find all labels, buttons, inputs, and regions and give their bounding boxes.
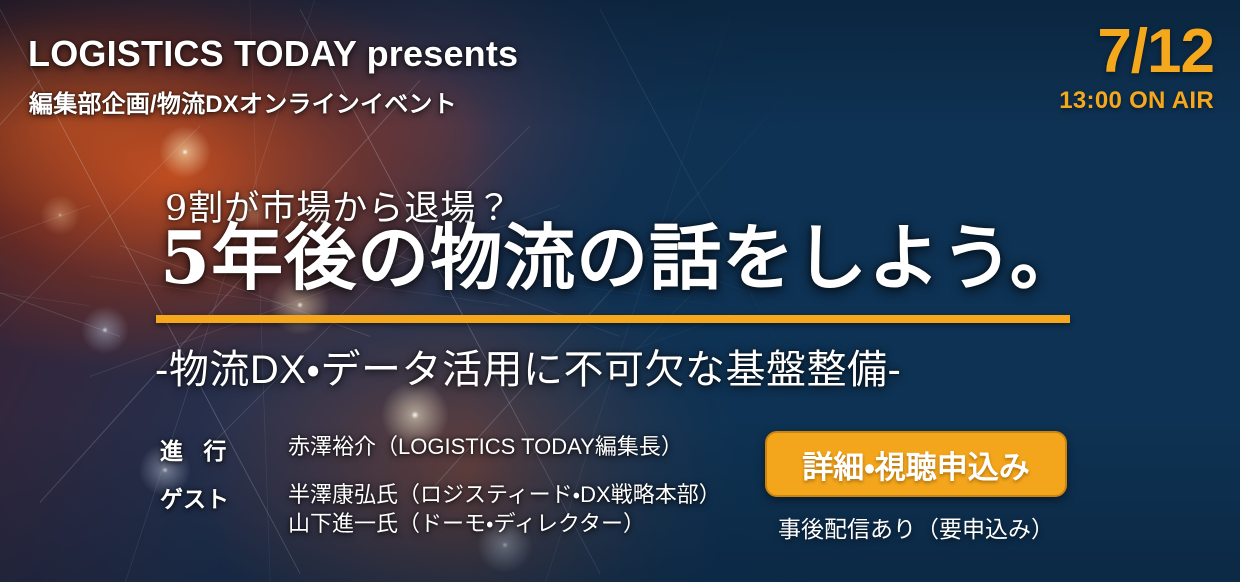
headline-main: 5年後の物流の話をしよう。 <box>160 222 1083 294</box>
details-and-signup-button-label: 詳細・視聴申込み <box>802 442 1030 487</box>
credit-value-guest-1: 半澤康弘氏（ロジスティード・DX戦略本部） <box>288 480 721 509</box>
credits-block: 進 行 赤澤裕介（LOGISTICS TODAY編集長） ゲスト 半澤康弘氏（ロ… <box>160 432 721 538</box>
banner-content-layer: LOGISTICS TODAY presents 編集部企画/物流DXオンライン… <box>0 0 1240 582</box>
event-date-block: 7/12 13:00 ON AIR <box>1059 22 1214 114</box>
brand-presents-line: LOGISTICS TODAY presents <box>28 33 518 75</box>
credit-values-guests: 半澤康弘氏（ロジスティード・DX戦略本部） 山下進一氏（ドーモ・ディレクター） <box>288 480 721 538</box>
headline-subhead: -物流DX・データ活用に不可欠な基盤整備- <box>155 337 901 395</box>
credit-value-guest-2: 山下進一氏（ドーモ・ディレクター） <box>288 509 721 538</box>
event-date: 7/12 <box>1059 22 1214 83</box>
credit-label-moderator: 進 行 <box>160 432 288 466</box>
credit-row-guests: ゲスト 半澤康弘氏（ロジスティード・DX戦略本部） 山下進一氏（ドーモ・ディレク… <box>160 480 721 538</box>
credit-values-moderator: 赤澤裕介（LOGISTICS TODAY編集長） <box>288 432 683 461</box>
credit-row-moderator: 進 行 赤澤裕介（LOGISTICS TODAY編集長） <box>160 432 721 466</box>
brand-sub-line: 編集部企画/物流DXオンラインイベント <box>29 84 457 119</box>
credit-label-guests: ゲスト <box>160 480 288 514</box>
event-time-onair-status: 13:00 ON AIR <box>1059 88 1214 114</box>
cta-note: 事後配信あり（要申込み） <box>765 510 1067 544</box>
details-and-signup-button[interactable]: 詳細・視聴申込み <box>765 431 1067 497</box>
headline-underline-rule <box>156 315 1070 323</box>
credit-value-moderator-1: 赤澤裕介（LOGISTICS TODAY編集長） <box>288 432 683 461</box>
event-promo-banner: LOGISTICS TODAY presents 編集部企画/物流DXオンライン… <box>0 0 1240 582</box>
